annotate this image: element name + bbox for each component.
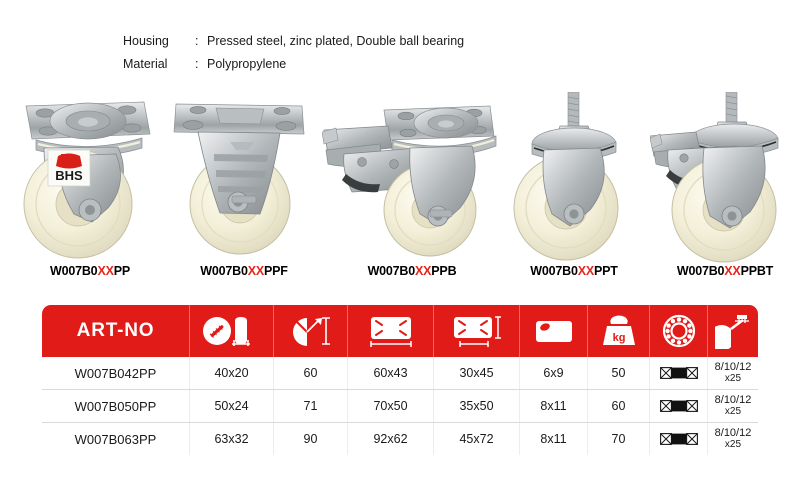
table-header-wheel-size bbox=[190, 305, 274, 357]
spec-value-housing: Pressed steel, zinc plated, Double ball … bbox=[207, 30, 464, 53]
table-header-bolt-hole-size bbox=[520, 305, 588, 357]
table-row[interactable]: W007B063PP 63x32 90 92x62 45x72 8x11 70 … bbox=[42, 423, 758, 455]
table-header-row: ART-NO bbox=[42, 305, 758, 357]
table-row[interactable]: W007B042PP 40x20 60 60x43 30x45 6x9 50 8… bbox=[42, 357, 758, 390]
product-item-4[interactable]: W007B0XXPPT bbox=[500, 92, 648, 292]
rigid-plate-caster-photo bbox=[168, 92, 320, 264]
brand-logo-sticker: BHS bbox=[48, 150, 90, 186]
caption-suffix-4: PPT bbox=[594, 264, 618, 278]
product-item-5[interactable]: W007B0XXPPBT bbox=[650, 92, 800, 292]
cell-art-no: W007B050PP bbox=[42, 390, 190, 422]
caption-variable-1: XX bbox=[97, 264, 113, 278]
bearing-symbol-icon bbox=[660, 366, 698, 380]
cell-capacity: 70 bbox=[588, 423, 650, 455]
product-photo-strip: BHS W007B0XXPP bbox=[0, 92, 800, 292]
cell-bolt-spacing: 30x45 bbox=[434, 357, 520, 389]
stem-size-line1: 8/10/12 bbox=[715, 394, 752, 407]
svg-text:BHS: BHS bbox=[55, 168, 83, 183]
caption-suffix-2: PPF bbox=[264, 264, 288, 278]
caption-prefix-2: W007B0 bbox=[200, 264, 247, 278]
table-header-stem-size bbox=[708, 305, 758, 357]
product-item-3[interactable]: W007B0XXPPB bbox=[322, 92, 502, 292]
caption-variable-2: XX bbox=[248, 264, 264, 278]
caption-variable-3: XX bbox=[415, 264, 431, 278]
ball-bearing-icon bbox=[662, 314, 696, 348]
cell-stem-size: 8/10/12 x25 bbox=[708, 390, 758, 422]
cell-bolt-hole: 8x11 bbox=[520, 423, 588, 455]
caption-prefix-3: W007B0 bbox=[368, 264, 415, 278]
spec-colon: : bbox=[195, 53, 207, 76]
table-header-ball-bearing bbox=[650, 305, 708, 357]
cell-bearing bbox=[650, 390, 708, 422]
cell-bolt-hole: 6x9 bbox=[520, 357, 588, 389]
caption-prefix-1: W007B0 bbox=[50, 264, 97, 278]
bearing-symbol-icon bbox=[660, 432, 698, 446]
product-caption-1: W007B0XXPP bbox=[14, 264, 166, 278]
stem-size-line2: x25 bbox=[715, 373, 752, 386]
caption-variable-5: XX bbox=[724, 264, 740, 278]
caption-suffix-5: PPBT bbox=[741, 264, 774, 278]
cell-overall-height: 90 bbox=[274, 423, 348, 455]
cell-bolt-hole: 8x11 bbox=[520, 390, 588, 422]
product-item-1[interactable]: BHS W007B0XXPP bbox=[14, 92, 166, 292]
cell-overall-height: 71 bbox=[274, 390, 348, 422]
caption-prefix-5: W007B0 bbox=[677, 264, 724, 278]
caption-prefix-4: W007B0 bbox=[530, 264, 577, 278]
kg-label: kg bbox=[612, 332, 625, 344]
stem-size-line2: x25 bbox=[715, 406, 752, 419]
bearing-symbol-icon bbox=[660, 399, 698, 413]
product-caption-2: W007B0XXPPF bbox=[168, 264, 320, 278]
cell-bearing bbox=[650, 357, 708, 389]
bolt-hole-size-icon bbox=[532, 316, 576, 346]
table-header-bolt-hole-spacing bbox=[434, 305, 520, 357]
cell-wheel-size: 63x32 bbox=[190, 423, 274, 455]
cell-bearing bbox=[650, 423, 708, 455]
stem-size-line2: x25 bbox=[715, 439, 752, 452]
load-capacity-kg-icon: kg bbox=[598, 313, 640, 349]
spec-row-material: Material : Polypropylene bbox=[123, 53, 464, 76]
product-item-2[interactable]: W007B0XXPPF bbox=[168, 92, 320, 292]
table-header-art-no: ART-NO bbox=[42, 305, 190, 357]
product-caption-4: W007B0XXPPT bbox=[500, 264, 648, 278]
cell-bolt-spacing: 45x72 bbox=[434, 423, 520, 455]
swivel-stem-caster-photo bbox=[500, 92, 648, 264]
caption-suffix-1: PP bbox=[114, 264, 130, 278]
spec-row-housing: Housing : Pressed steel, zinc plated, Do… bbox=[123, 30, 464, 53]
table-header-overall-height bbox=[274, 305, 348, 357]
spec-colon: : bbox=[195, 30, 207, 53]
swivel-plate-caster-brake-photo bbox=[322, 92, 502, 264]
specification-table: ART-NO bbox=[42, 305, 758, 455]
cell-wheel-size: 40x20 bbox=[190, 357, 274, 389]
cell-overall-height: 60 bbox=[274, 357, 348, 389]
caption-suffix-3: PPB bbox=[431, 264, 456, 278]
stem-size-line1: 8/10/12 bbox=[715, 361, 752, 374]
cell-capacity: 50 bbox=[588, 357, 650, 389]
table-header-load-capacity: kg bbox=[588, 305, 650, 357]
cell-plate-size: 92x62 bbox=[348, 423, 434, 455]
spec-key-material: Material bbox=[123, 53, 195, 76]
spec-value-material: Polypropylene bbox=[207, 53, 286, 76]
swivel-caster-icon bbox=[715, 313, 751, 349]
swivel-plate-caster-photo: BHS bbox=[14, 92, 166, 264]
cell-capacity: 60 bbox=[588, 390, 650, 422]
top-plate-size-icon bbox=[363, 313, 419, 349]
swivel-stem-caster-brake-photo bbox=[650, 92, 800, 264]
cell-art-no: W007B063PP bbox=[42, 423, 190, 455]
cell-stem-size: 8/10/12 x25 bbox=[708, 357, 758, 389]
bolt-hole-spacing-icon bbox=[448, 313, 506, 349]
product-caption-5: W007B0XXPPBT bbox=[650, 264, 800, 278]
cell-plate-size: 60x43 bbox=[348, 357, 434, 389]
wheel-size-icon bbox=[201, 314, 263, 348]
cell-bolt-spacing: 35x50 bbox=[434, 390, 520, 422]
art-no-label: ART-NO bbox=[77, 320, 155, 342]
stem-size-line1: 8/10/12 bbox=[715, 427, 752, 440]
cell-plate-size: 70x50 bbox=[348, 390, 434, 422]
overall-height-icon bbox=[289, 314, 333, 348]
spec-key-housing: Housing bbox=[123, 30, 195, 53]
cell-stem-size: 8/10/12 x25 bbox=[708, 423, 758, 455]
caption-variable-4: XX bbox=[578, 264, 594, 278]
cell-art-no: W007B042PP bbox=[42, 357, 190, 389]
cell-wheel-size: 50x24 bbox=[190, 390, 274, 422]
table-row[interactable]: W007B050PP 50x24 71 70x50 35x50 8x11 60 … bbox=[42, 390, 758, 423]
product-caption-3: W007B0XXPPB bbox=[322, 264, 502, 278]
specification-header: Housing : Pressed steel, zinc plated, Do… bbox=[123, 30, 464, 76]
table-header-top-plate-size bbox=[348, 305, 434, 357]
